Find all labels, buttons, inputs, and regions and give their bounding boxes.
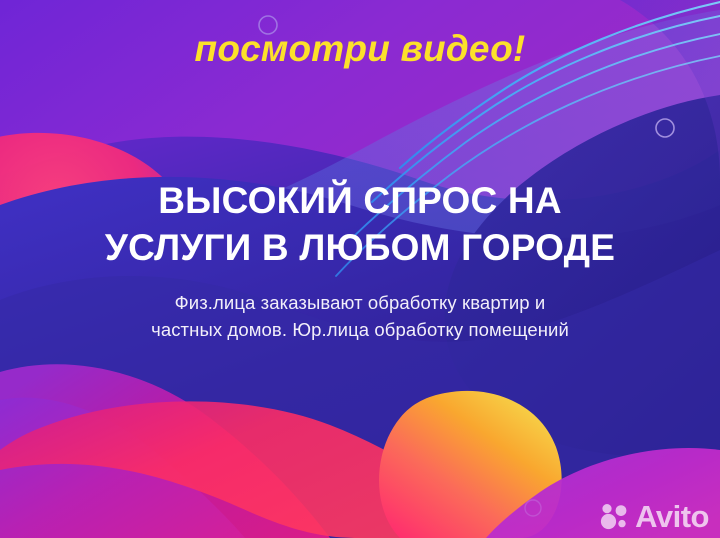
subtitle: Физ.лица заказывают обработку квартир и … bbox=[0, 290, 720, 344]
avito-wordmark: Avito bbox=[635, 501, 709, 532]
headline-line-2: УСЛУГИ В ЛЮБОМ ГОРОДЕ bbox=[0, 225, 720, 272]
promo-banner: посмотри видео! ВЫСОКИЙ СПРОС НА УСЛУГИ … bbox=[0, 0, 720, 538]
avito-dots-logo-icon bbox=[600, 503, 630, 531]
headline: ВЫСОКИЙ СПРОС НА УСЛУГИ В ЛЮБОМ ГОРОДЕ bbox=[0, 178, 720, 271]
kicker-text: посмотри видео! bbox=[0, 30, 720, 67]
headline-line-1: ВЫСОКИЙ СПРОС НА bbox=[0, 178, 720, 225]
subtitle-line-2: частных домов. Юр.лица обработку помещен… bbox=[0, 317, 720, 344]
banner-text-layer: посмотри видео! ВЫСОКИЙ СПРОС НА УСЛУГИ … bbox=[0, 0, 720, 538]
avito-watermark: Avito bbox=[600, 501, 709, 532]
subtitle-line-1: Физ.лица заказывают обработку квартир и bbox=[0, 290, 720, 317]
